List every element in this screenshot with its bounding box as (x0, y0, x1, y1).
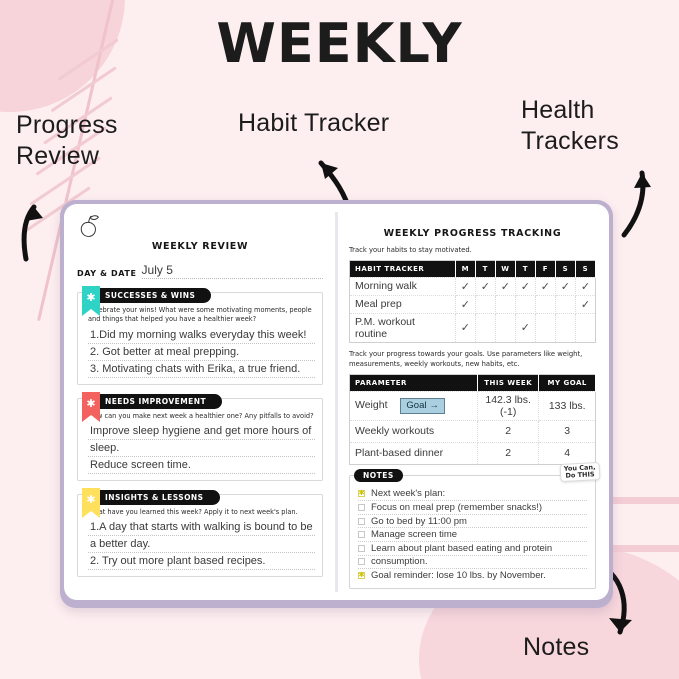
callout-health-trackers-line1: Health (521, 95, 619, 126)
section-successes-wins: ✱ SUCCESSES & WINS Celebrate your wins! … (77, 292, 323, 385)
callout-progress-review-line1: Progress (16, 110, 118, 141)
habit-day-header: W (495, 260, 515, 277)
section-needs-improvement: ✱ NEEDS IMPROVEMENT How can you make nex… (77, 398, 323, 481)
param-this-week[interactable]: 2 (477, 420, 539, 442)
param-this-week[interactable]: 2 (477, 442, 539, 464)
habit-check-cell[interactable] (535, 313, 555, 342)
habit-check-cell[interactable]: ✓ (455, 277, 475, 295)
poster-canvas: WEEKLY Progress Review Habit Tracker Hea… (0, 0, 679, 679)
param-header-parameter: PARAMETER (350, 374, 478, 391)
check-icon: ✓ (481, 281, 490, 293)
note-text: Learn about plant based eating and prote… (371, 543, 552, 554)
table-row: Weekly workouts 2 3 (350, 420, 596, 442)
checkbox[interactable] (358, 531, 365, 538)
checkbox[interactable] (358, 504, 365, 511)
habit-name[interactable]: Meal prep (350, 295, 456, 313)
habit-check-cell[interactable]: ✓ (455, 313, 475, 342)
habit-check-cell[interactable] (535, 295, 555, 313)
habit-table-header-label: HABIT TRACKER (350, 260, 456, 277)
param-header-this-week: THIS WEEK (477, 374, 539, 391)
habit-check-cell[interactable] (575, 313, 595, 342)
section-prompt-insights-lessons: What have you learned this week? Apply i… (88, 508, 315, 517)
list-item[interactable]: Manage screen time (358, 528, 587, 542)
callout-progress-review: Progress Review (16, 110, 118, 171)
param-name[interactable]: Plant-based dinner (350, 442, 478, 464)
habit-name[interactable]: Morning walk (350, 277, 456, 295)
arrow-progress-review (4, 185, 60, 265)
habit-day-header: S (555, 260, 575, 277)
parameter-table: PARAMETER THIS WEEK MY GOAL Weight Goal … (349, 374, 596, 465)
habit-check-cell[interactable] (475, 313, 495, 342)
habit-check-cell[interactable]: ✓ (475, 277, 495, 295)
callout-health-trackers: Health Trackers (521, 95, 619, 156)
check-icon: ✓ (521, 322, 530, 334)
note-text: Focus on meal prep (remember snacks!) (371, 502, 542, 513)
planner-book: WEEKLY REVIEW DAY & DATE July 5 ✱ SUCCES… (60, 200, 613, 608)
check-icon: ✓ (461, 281, 470, 293)
note-text: Goal reminder: lose 10 lbs. by November. (371, 570, 546, 581)
habit-intro-text: Track your habits to stay motivated. (349, 246, 596, 256)
check-icon: ✓ (521, 281, 530, 293)
entry-line[interactable]: 1.Did my morning walks everyday this wee… (88, 327, 315, 344)
entry-line[interactable]: 1.A day that starts with walking is boun… (88, 519, 315, 536)
habit-check-cell[interactable]: ✓ (515, 277, 535, 295)
habit-check-cell[interactable]: ✓ (555, 277, 575, 295)
habit-check-cell[interactable]: ✓ (495, 277, 515, 295)
param-table-header-row: PARAMETER THIS WEEK MY GOAL (350, 374, 596, 391)
check-icon: ✓ (561, 281, 570, 293)
habit-check-cell[interactable]: ✓ (515, 313, 535, 342)
entry-line[interactable]: sleep. (88, 440, 315, 457)
day-date-field[interactable]: DAY & DATE July 5 (77, 264, 323, 279)
habit-day-header: F (535, 260, 555, 277)
habit-check-cell[interactable] (495, 313, 515, 342)
table-row: Meal prep ✓ ✓ (350, 295, 596, 313)
habit-tracker-table: HABIT TRACKER M T W T F S S Morning walk… (349, 260, 596, 343)
section-box-successes-wins: Celebrate your wins! What were some moti… (77, 292, 323, 385)
section-tag-insights-lessons: INSIGHTS & LESSONS (96, 490, 220, 505)
param-name[interactable]: Weekly workouts (350, 420, 478, 442)
check-icon: ✓ (581, 299, 590, 311)
check-icon: ✓ (501, 281, 510, 293)
note-text: Next week's plan: (371, 488, 445, 499)
ribbon-needs-improvement: ✱ (82, 392, 100, 422)
checkbox[interactable] (358, 558, 365, 565)
apple-leaf-icon (78, 214, 100, 238)
notes-section: NOTES You Can, Do THIS ✱ Next week's pla… (349, 475, 596, 589)
notes-box: ✱ Next week's plan: Focus on meal prep (… (349, 475, 596, 589)
entry-line[interactable]: 3. Motivating chats with Erika, a true f… (88, 361, 315, 378)
star-icon: ✱ (86, 495, 95, 506)
checkbox[interactable] (358, 545, 365, 552)
entry-line[interactable]: 2. Got better at meal prepping. (88, 344, 315, 361)
habit-day-header: T (475, 260, 495, 277)
habit-day-header: M (455, 260, 475, 277)
page-title: WEEKLY (0, 12, 679, 75)
habit-check-cell[interactable]: ✓ (535, 277, 555, 295)
planner-left-page: WEEKLY REVIEW DAY & DATE July 5 ✱ SUCCES… (64, 204, 336, 600)
section-tag-needs-improvement: NEEDS IMPROVEMENT (96, 394, 222, 409)
right-page-title: WEEKLY PROGRESS TRACKING (349, 228, 596, 239)
param-header-my-goal: MY GOAL (539, 374, 596, 391)
entry-line[interactable]: Reduce screen time. (88, 457, 315, 474)
arrow-health-trackers (608, 155, 668, 240)
check-icon: ✓ (461, 299, 470, 311)
list-item[interactable]: ✱ Goal reminder: lose 10 lbs. by Novembe… (358, 569, 587, 583)
notes-tag: NOTES (354, 469, 403, 482)
list-item[interactable]: Focus on meal prep (remember snacks!) (358, 501, 587, 515)
habit-check-cell[interactable]: ✓ (575, 277, 595, 295)
habit-check-cell[interactable]: ✓ (455, 295, 475, 313)
sticker-line2: Do THIS (564, 471, 596, 480)
star-icon: ✱ (86, 293, 95, 304)
left-page-title: WEEKLY REVIEW (77, 241, 323, 252)
list-item[interactable]: consumption. (358, 556, 587, 570)
list-item[interactable]: Go to bed by 11:00 pm (358, 515, 587, 529)
section-tag-successes-wins: SUCCESSES & WINS (96, 288, 211, 303)
habit-day-header: S (575, 260, 595, 277)
habit-name[interactable]: P.M. workout routine (350, 313, 456, 342)
day-date-label: DAY & DATE (77, 269, 137, 279)
table-row: Morning walk ✓ ✓ ✓ ✓ ✓ ✓ ✓ (350, 277, 596, 295)
checkbox[interactable] (358, 518, 365, 525)
check-icon: ✓ (541, 281, 550, 293)
checkbox-starred[interactable]: ✱ (358, 490, 365, 497)
ribbon-successes-wins: ✱ (82, 286, 100, 316)
section-insights-lessons: ✱ INSIGHTS & LESSONS What have you learn… (77, 494, 323, 577)
habit-check-cell[interactable]: ✓ (575, 295, 595, 313)
habit-check-cell[interactable] (475, 295, 495, 313)
param-my-goal[interactable]: 133 lbs. (539, 391, 596, 420)
table-row: P.M. workout routine ✓ ✓ (350, 313, 596, 342)
callout-notes: Notes (523, 632, 589, 663)
goal-chip-button[interactable]: Goal → (400, 398, 445, 414)
param-intro-text: Track your progress towards your goals. … (349, 350, 596, 370)
param-name-cell[interactable]: Weight Goal → (350, 391, 478, 420)
param-this-week[interactable]: 142.3 lbs. (-1) (477, 391, 539, 420)
check-icon: ✓ (581, 281, 590, 293)
list-item[interactable]: Learn about plant based eating and prote… (358, 542, 587, 556)
section-box-needs-improvement: How can you make next week a healthier o… (77, 398, 323, 481)
section-prompt-needs-improvement: How can you make next week a healthier o… (88, 412, 315, 421)
list-item[interactable]: ✱ Next week's plan: (358, 488, 587, 502)
habit-check-cell[interactable] (495, 295, 515, 313)
param-my-goal[interactable]: 4 (539, 442, 596, 464)
entry-line[interactable]: Improve sleep hygiene and get more hours… (88, 423, 315, 440)
planner-right-page: WEEKLY PROGRESS TRACKING Track your habi… (336, 204, 609, 600)
planner-pages: WEEKLY REVIEW DAY & DATE July 5 ✱ SUCCES… (64, 204, 609, 600)
ribbon-insights-lessons: ✱ (82, 488, 100, 518)
table-row: Plant-based dinner 2 4 (350, 442, 596, 464)
section-prompt-successes-wins: Celebrate your wins! What were some moti… (88, 306, 315, 325)
callout-habit-tracker: Habit Tracker (238, 108, 389, 139)
param-my-goal[interactable]: 3 (539, 420, 596, 442)
checkbox-starred[interactable]: ✱ (358, 572, 365, 579)
goal-chip-label: Goal (406, 399, 426, 413)
habit-check-cell[interactable] (555, 295, 575, 313)
habit-table-header-row: HABIT TRACKER M T W T F S S (350, 260, 596, 277)
habit-check-cell[interactable] (515, 295, 535, 313)
habit-check-cell[interactable] (555, 313, 575, 342)
callout-progress-review-line2: Review (16, 141, 118, 172)
motivation-sticker: You Can, Do THIS (560, 462, 601, 482)
section-box-insights-lessons: What have you learned this week? Apply i… (77, 494, 323, 577)
callout-health-trackers-line2: Trackers (521, 126, 619, 157)
entry-line[interactable]: a better day. (88, 536, 315, 553)
arrow-right-icon: → (430, 399, 440, 413)
habit-day-header: T (515, 260, 535, 277)
check-icon: ✓ (461, 322, 470, 334)
table-row: Weight Goal → 142.3 lbs. (-1) 133 lbs. (350, 391, 596, 420)
note-text: Go to bed by 11:00 pm (371, 516, 467, 527)
star-icon: ✱ (86, 399, 95, 410)
param-name: Weight (355, 399, 388, 411)
note-text: consumption. (371, 556, 428, 567)
note-text: Manage screen time (371, 529, 457, 540)
entry-line[interactable]: 2. Try out more plant based recipes. (88, 553, 315, 570)
day-date-value[interactable]: July 5 (142, 264, 323, 279)
